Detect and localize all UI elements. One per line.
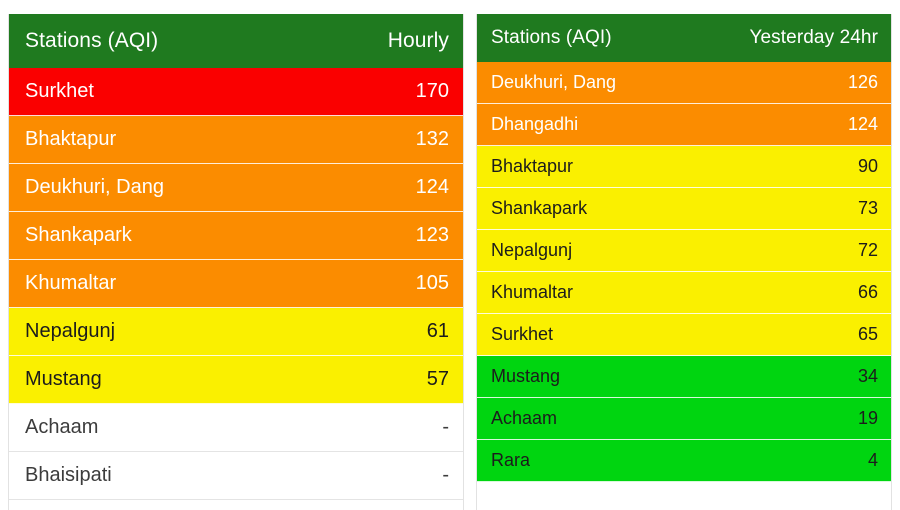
table-header-hourly: Stations (AQI) Hourly <box>9 14 463 68</box>
table-row[interactable]: Bhaisipati- <box>9 452 463 500</box>
station-name: Bhaktapur <box>491 156 573 177</box>
table-row[interactable]: Surkhet170 <box>9 68 463 116</box>
station-aqi-value: - <box>432 464 449 487</box>
table-row[interactable]: Shankapark123 <box>9 212 463 260</box>
table-row[interactable]: Khumaltar105 <box>9 260 463 308</box>
station-aqi-value: 73 <box>848 198 878 219</box>
station-aqi-value: 19 <box>848 408 878 429</box>
aqi-stations-yesterday-table: Stations (AQI) Yesterday 24hr Deukhuri, … <box>476 14 892 510</box>
station-name: Shankapark <box>491 198 587 219</box>
station-aqi-value: - <box>432 416 449 439</box>
station-name: Bhaktapur <box>25 128 116 151</box>
station-name: Deukhuri, Dang <box>25 176 164 199</box>
table-row[interactable]: Deukhuri, Dang124 <box>9 164 463 212</box>
station-name: Khumaltar <box>491 282 573 303</box>
station-name: Mustang <box>491 366 560 387</box>
station-name: Achaam <box>25 416 98 439</box>
station-name: Achaam <box>491 408 557 429</box>
table-body-hourly: Surkhet170Bhaktapur132Deukhuri, Dang124S… <box>9 68 463 500</box>
table-row[interactable]: Dhangadhi124 <box>477 104 891 146</box>
station-name: Dhangadhi <box>491 114 578 135</box>
table-row[interactable]: Achaam19 <box>477 398 891 440</box>
station-aqi-value: 124 <box>838 114 878 135</box>
station-aqi-value: 105 <box>406 272 449 295</box>
station-name: Surkhet <box>491 324 553 345</box>
table-row[interactable]: Surkhet65 <box>477 314 891 356</box>
station-name: Surkhet <box>25 80 94 103</box>
station-name: Rara <box>491 450 530 471</box>
station-name: Shankapark <box>25 224 132 247</box>
table-row[interactable]: Khumaltar66 <box>477 272 891 314</box>
table-header-yesterday: Stations (AQI) Yesterday 24hr <box>477 14 891 62</box>
station-name: Mustang <box>25 368 102 391</box>
station-aqi-value: 123 <box>406 224 449 247</box>
station-aqi-value: 61 <box>417 320 449 343</box>
table-row[interactable]: Bhaktapur132 <box>9 116 463 164</box>
column-header-stations: Stations (AQI) <box>491 27 612 49</box>
table-row[interactable]: Rara4 <box>477 440 891 482</box>
station-aqi-value: 124 <box>406 176 449 199</box>
station-aqi-value: 34 <box>848 366 878 387</box>
station-aqi-value: 4 <box>858 450 878 471</box>
table-row[interactable]: Mustang57 <box>9 356 463 404</box>
station-aqi-value: 57 <box>417 368 449 391</box>
station-name: Bhaisipati <box>25 464 112 487</box>
station-aqi-value: 90 <box>848 156 878 177</box>
station-aqi-value: 66 <box>848 282 878 303</box>
station-aqi-value: 170 <box>406 80 449 103</box>
station-aqi-value: 65 <box>848 324 878 345</box>
aqi-stations-dashboard: Stations (AQI) Hourly Surkhet170Bhaktapu… <box>0 0 900 502</box>
table-row[interactable]: Bhaktapur90 <box>477 146 891 188</box>
aqi-stations-hourly-table: Stations (AQI) Hourly Surkhet170Bhaktapu… <box>8 14 464 510</box>
column-header-metric: Yesterday 24hr <box>749 27 878 49</box>
station-name: Nepalgunj <box>25 320 115 343</box>
table-body-yesterday: Deukhuri, Dang126Dhangadhi124Bhaktapur90… <box>477 62 891 482</box>
station-name: Khumaltar <box>25 272 116 295</box>
table-row[interactable]: Mustang34 <box>477 356 891 398</box>
station-aqi-value: 72 <box>848 240 878 261</box>
column-header-stations: Stations (AQI) <box>25 29 158 53</box>
table-row[interactable]: Deukhuri, Dang126 <box>477 62 891 104</box>
station-name: Deukhuri, Dang <box>491 72 616 93</box>
station-aqi-value: 126 <box>838 72 878 93</box>
column-header-metric: Hourly <box>388 29 449 53</box>
table-row[interactable]: Achaam- <box>9 404 463 452</box>
station-name: Nepalgunj <box>491 240 572 261</box>
table-row[interactable]: Nepalgunj61 <box>9 308 463 356</box>
table-row[interactable]: Shankapark73 <box>477 188 891 230</box>
table-row[interactable]: Nepalgunj72 <box>477 230 891 272</box>
station-aqi-value: 132 <box>406 128 449 151</box>
